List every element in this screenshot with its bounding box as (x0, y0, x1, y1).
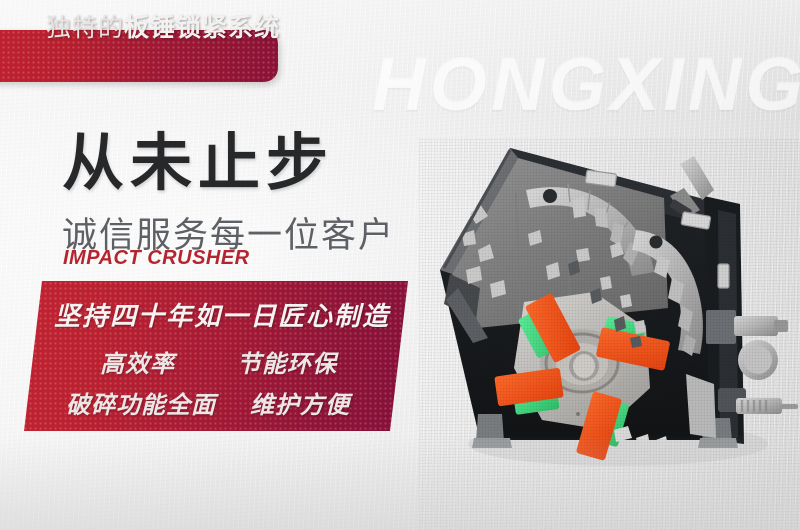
feature-item-energy-saving: 节能环保 (237, 344, 337, 379)
feature-item-efficiency: 高效率 (100, 344, 175, 379)
crusher-illustration (418, 138, 800, 530)
feature-item-crushing-range: 破碎功能全面 (66, 385, 216, 420)
feature-item-easy-maintenance: 维护方便 (250, 385, 350, 420)
feature-panel: 坚持四十年如一日匠心制造 高效率 节能环保 破碎功能全面 维护方便 (8, 281, 408, 431)
brand-watermark: HONGXING (372, 42, 800, 127)
page-title: 从未止步 (62, 112, 334, 202)
feature-gap (175, 344, 237, 379)
ribbon-emphasis: 板锤锁紧系统 (124, 8, 280, 44)
feature-panel-title: 坚持四十年如一日匠心制造 (54, 296, 390, 333)
product-english-label: IMPACT CRUSHER (63, 247, 250, 270)
ribbon-prefix: 独特的 (46, 8, 124, 44)
feature-gap (216, 385, 250, 420)
impact-crusher-image (418, 138, 800, 530)
ribbon-label: 独特的板锤锁紧系统 (46, 0, 280, 52)
feature-row-2: 破碎功能全面 维护方便 (66, 385, 350, 420)
feature-row-1: 高效率 节能环保 (100, 344, 337, 379)
banner-canvas: HONGXING (0, 0, 800, 530)
